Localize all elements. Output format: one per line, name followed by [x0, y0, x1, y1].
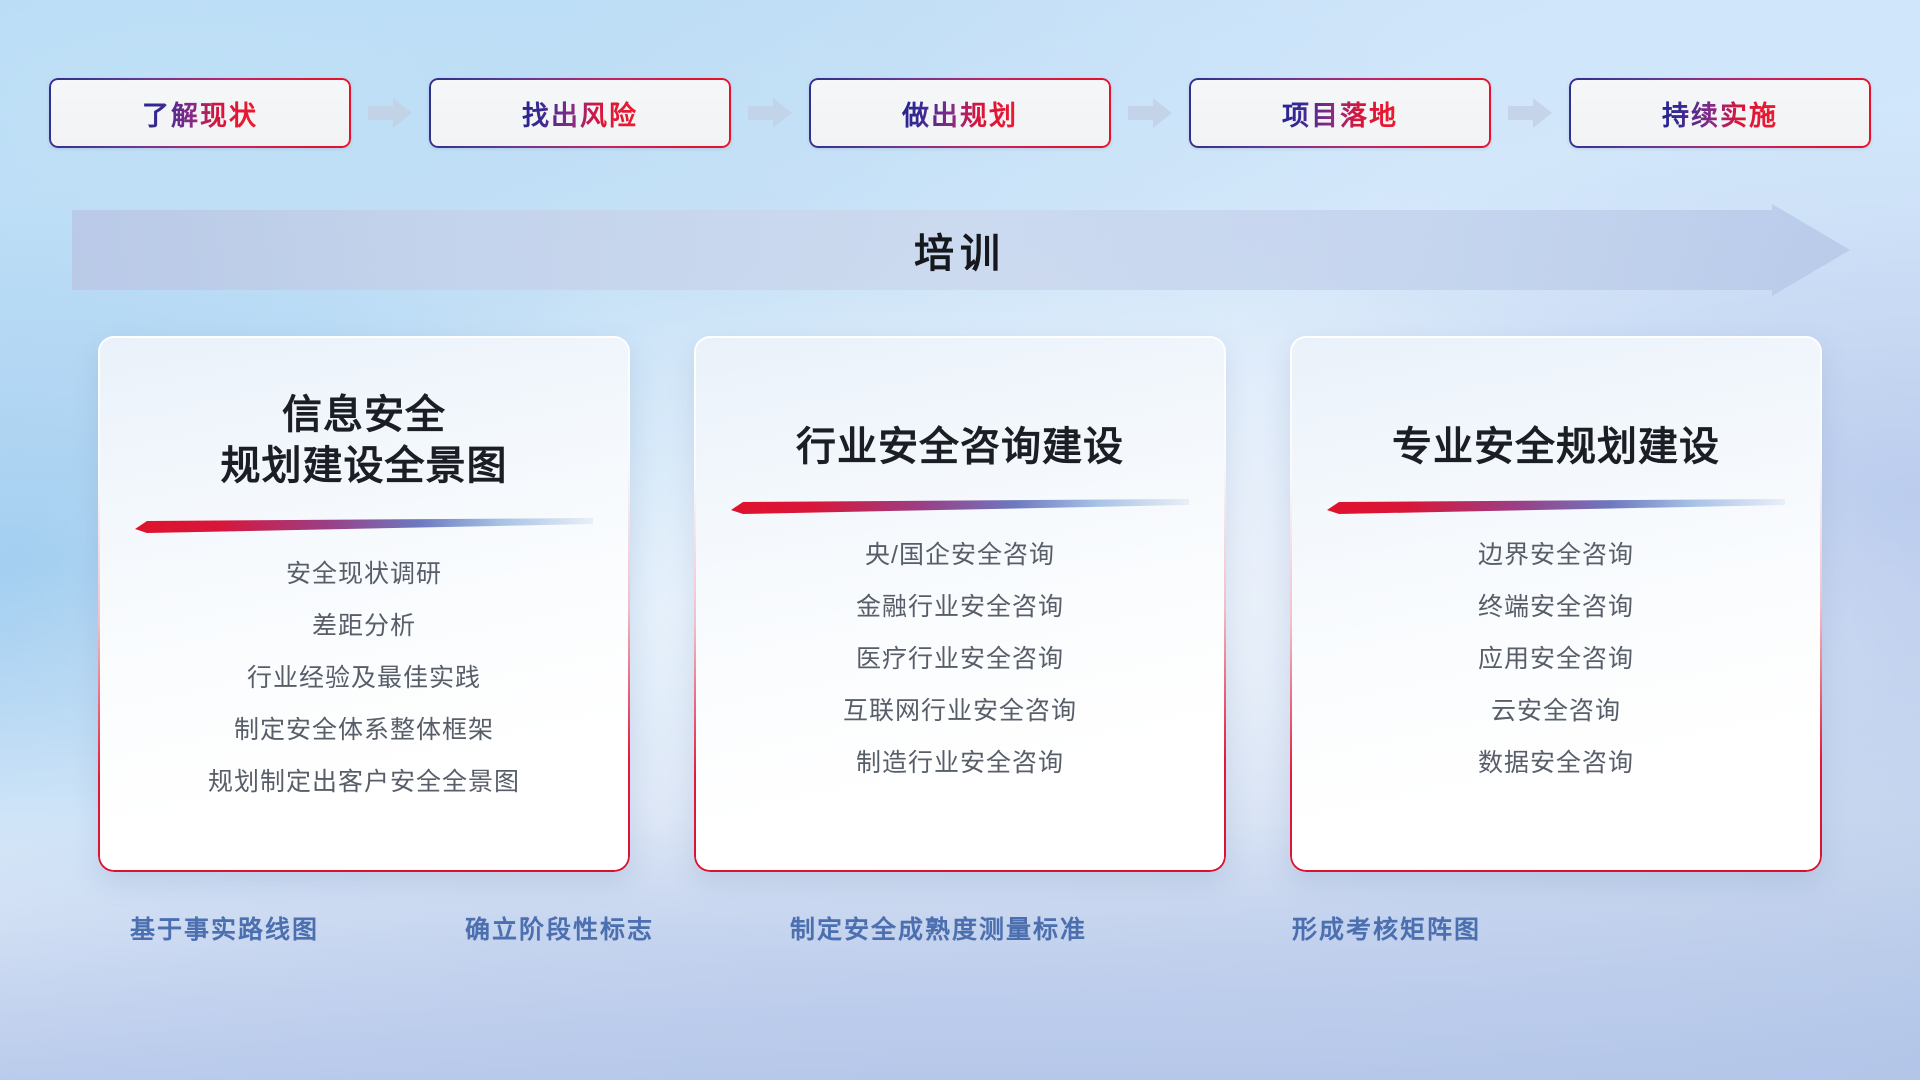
list-item[interactable]: 金融行业安全咨询 — [856, 595, 1064, 620]
service-card-inner: 行业安全咨询建设央/国企安全咨询金融行业安全咨询医疗行业安全咨询互联网行业安全咨… — [696, 338, 1224, 870]
service-card-1[interactable]: 信息安全规划建设全景图安全现状调研差距分析行业经验及最佳实践制定安全体系整体框架… — [98, 336, 630, 872]
service-card-row: 信息安全规划建设全景图安全现状调研差距分析行业经验及最佳实践制定安全体系整体框架… — [0, 336, 1920, 872]
service-card-inner: 专业安全规划建设边界安全咨询终端安全咨询应用安全咨询云安全咨询数据安全咨询 — [1292, 338, 1820, 870]
service-card-title-line: 专业安全规划建设 — [1292, 422, 1820, 473]
list-item[interactable]: 制造行业安全咨询 — [856, 751, 1064, 776]
list-item[interactable]: 差距分析 — [312, 614, 416, 639]
list-item[interactable]: 云安全咨询 — [1491, 699, 1621, 724]
step-box-5[interactable]: 持续实施 — [1569, 78, 1871, 148]
list-item[interactable]: 安全现状调研 — [286, 562, 442, 587]
list-item[interactable]: 规划制定出客户安全全景图 — [208, 770, 520, 795]
service-card-list: 安全现状调研差距分析行业经验及最佳实践制定安全体系整体框架规划制定出客户安全全景… — [100, 562, 628, 822]
service-card-inner: 信息安全规划建设全景图安全现状调研差距分析行业经验及最佳实践制定安全体系整体框架… — [100, 338, 628, 870]
training-label: 培训 — [914, 221, 1006, 279]
step-box-4[interactable]: 项目落地 — [1189, 78, 1491, 148]
list-item[interactable]: 央/国企安全咨询 — [865, 543, 1055, 568]
service-card-title: 专业安全规划建设 — [1292, 422, 1820, 473]
list-item[interactable]: 应用安全咨询 — [1478, 647, 1634, 672]
list-item[interactable]: 医疗行业安全咨询 — [856, 647, 1064, 672]
arrow-right-icon — [1128, 98, 1172, 128]
process-step-row: 了解现状找出风险做出规划项目落地持续实施 — [0, 76, 1920, 150]
footnote-label-1: 基于事实路线图 — [130, 910, 319, 946]
arrow-right-icon — [748, 98, 792, 128]
step-box-2[interactable]: 找出风险 — [429, 78, 731, 148]
card-divider — [731, 497, 1189, 515]
footnote-row: 基于事实路线图确立阶段性标志制定安全成熟度测量标准形成考核矩阵图 — [0, 910, 1920, 956]
arrow-right-icon — [368, 98, 412, 128]
list-item[interactable]: 边界安全咨询 — [1478, 543, 1634, 568]
service-card-3[interactable]: 专业安全规划建设边界安全咨询终端安全咨询应用安全咨询云安全咨询数据安全咨询 — [1290, 336, 1822, 872]
service-card-list: 央/国企安全咨询金融行业安全咨询医疗行业安全咨询互联网行业安全咨询制造行业安全咨… — [696, 543, 1224, 803]
card-divider — [1327, 497, 1785, 515]
footnote-label-2: 确立阶段性标志 — [465, 910, 654, 946]
step-label: 找出风险 — [522, 94, 638, 133]
list-item[interactable]: 行业经验及最佳实践 — [247, 666, 481, 691]
card-divider — [135, 516, 593, 534]
list-item[interactable]: 制定安全体系整体框架 — [234, 718, 494, 743]
list-item[interactable]: 数据安全咨询 — [1478, 751, 1634, 776]
footnote-label-4: 形成考核矩阵图 — [1292, 910, 1481, 946]
service-card-title-line: 规划建设全景图 — [100, 441, 628, 492]
footnote-label-3: 制定安全成熟度测量标准 — [790, 910, 1087, 946]
step-label: 了解现状 — [142, 94, 258, 133]
step-box-1[interactable]: 了解现状 — [49, 78, 351, 148]
service-card-title-line: 信息安全 — [100, 390, 628, 441]
arrow-right-icon — [1508, 98, 1552, 128]
service-card-title: 行业安全咨询建设 — [696, 422, 1224, 473]
service-card-2[interactable]: 行业安全咨询建设央/国企安全咨询金融行业安全咨询医疗行业安全咨询互联网行业安全咨… — [694, 336, 1226, 872]
list-item[interactable]: 终端安全咨询 — [1478, 595, 1634, 620]
step-label: 做出规划 — [902, 94, 1018, 133]
service-card-title-line: 行业安全咨询建设 — [696, 422, 1224, 473]
list-item[interactable]: 互联网行业安全咨询 — [843, 699, 1077, 724]
service-card-title: 信息安全规划建设全景图 — [100, 390, 628, 492]
step-label: 持续实施 — [1662, 94, 1778, 133]
step-box-3[interactable]: 做出规划 — [809, 78, 1111, 148]
step-label: 项目落地 — [1282, 94, 1398, 133]
training-band-text-wrap: 培训 — [0, 204, 1920, 296]
service-card-list: 边界安全咨询终端安全咨询应用安全咨询云安全咨询数据安全咨询 — [1292, 543, 1820, 803]
